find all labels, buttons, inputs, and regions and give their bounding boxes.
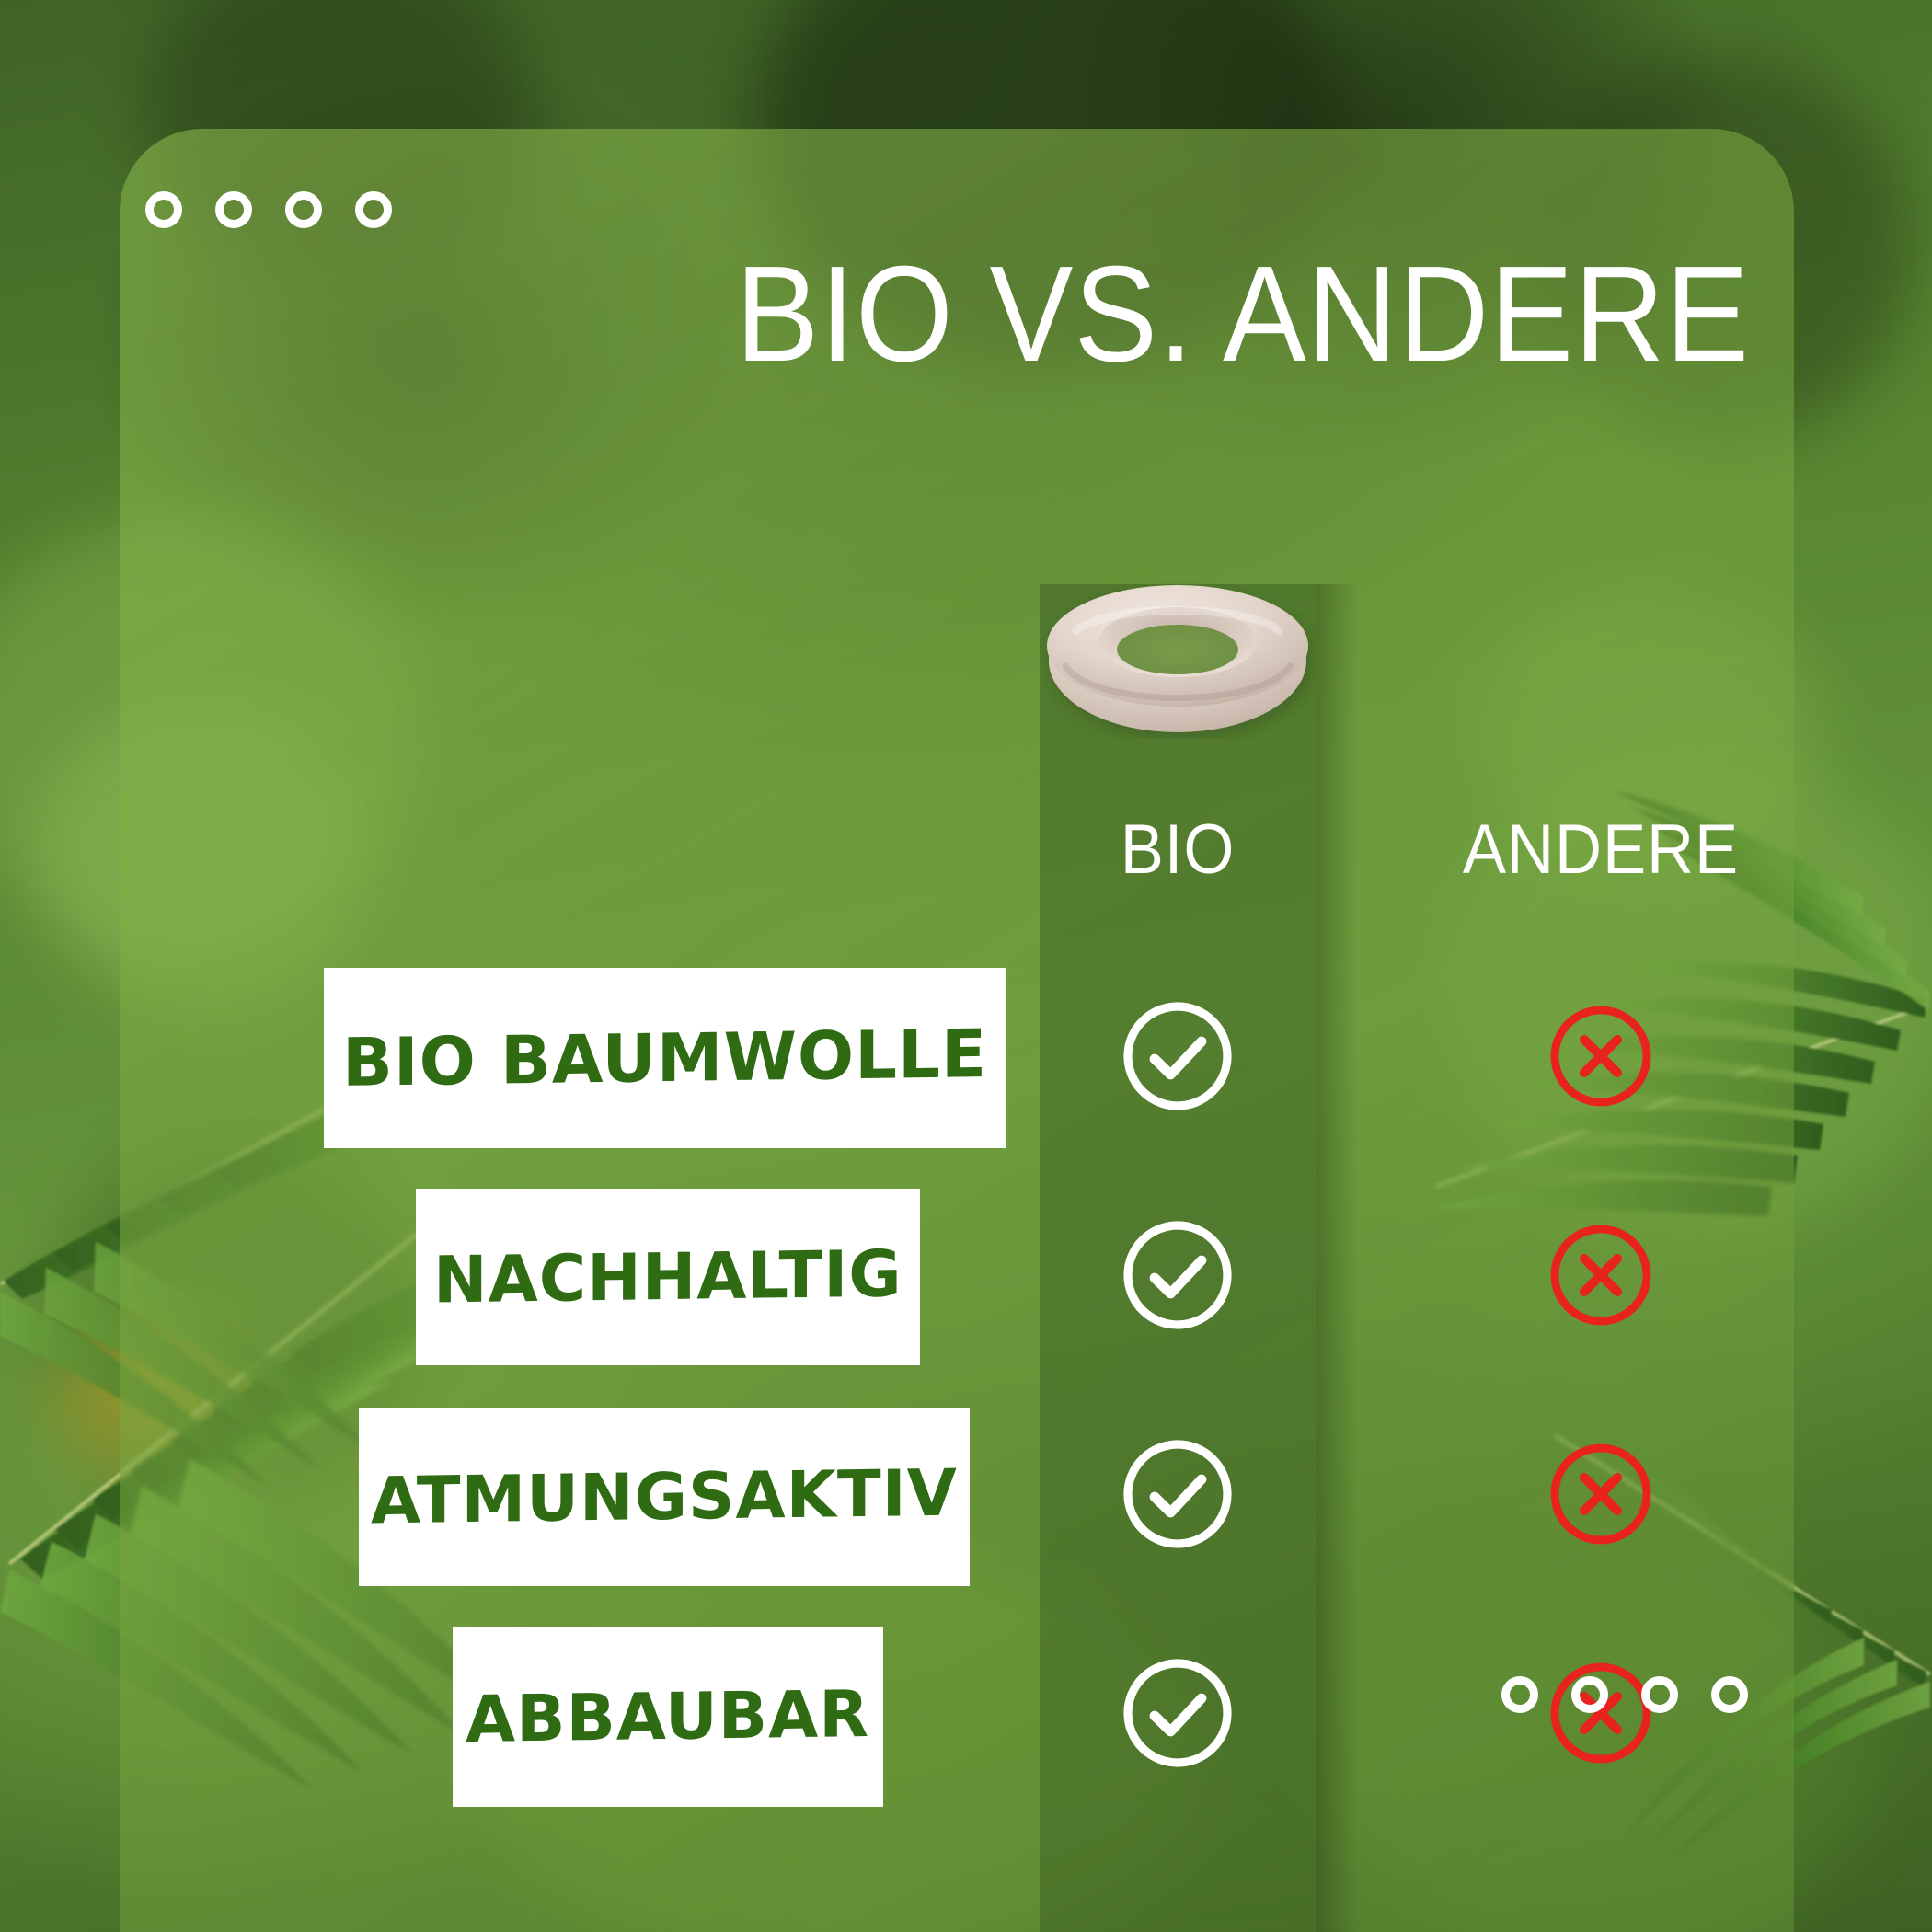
ring-dot-icon xyxy=(1711,1676,1748,1713)
feature-plate: ATMUNGSAKTIV xyxy=(359,1408,970,1586)
check-circle-icon xyxy=(1119,1216,1236,1334)
ring-dot-icon xyxy=(145,191,182,228)
ring-dot-icon xyxy=(1501,1676,1538,1713)
cross-circle-icon xyxy=(1542,997,1660,1115)
ring-dot-icon xyxy=(355,191,392,228)
hair-tie-product-image xyxy=(1040,578,1316,739)
feature-plate: BIO BAUMWOLLE xyxy=(324,968,1006,1148)
feature-plate: NACHHALTIG xyxy=(416,1189,920,1365)
feature-plate: ABBAUBAR xyxy=(453,1627,883,1807)
feature-label: NACHHALTIG xyxy=(433,1236,903,1317)
ring-dot-icon xyxy=(1571,1676,1608,1713)
check-circle-icon xyxy=(1119,1435,1236,1553)
cross-circle-icon xyxy=(1542,1216,1660,1334)
feature-label: BIO BAUMWOLLE xyxy=(342,1015,987,1101)
check-circle-icon xyxy=(1119,1654,1236,1772)
dots-row-bottom-right xyxy=(1501,1676,1748,1713)
comparison-card: BIO VS. ANDERE xyxy=(120,129,1794,1932)
column-header-other: ANDERE xyxy=(1404,810,1794,890)
column-header-bio: BIO xyxy=(1050,810,1306,890)
dots-row-top-left xyxy=(145,191,392,228)
poster-canvas: BIO VS. ANDERE xyxy=(0,0,1932,1932)
cross-circle-icon xyxy=(1542,1654,1660,1772)
ring-dot-icon xyxy=(285,191,322,228)
cross-circle-icon xyxy=(1542,1435,1660,1553)
ring-dot-icon xyxy=(1641,1676,1678,1713)
ring-dot-icon xyxy=(215,191,252,228)
feature-label: ABBAUBAR xyxy=(466,1676,869,1757)
check-circle-icon xyxy=(1119,997,1236,1115)
page-title: BIO VS. ANDERE xyxy=(250,247,1750,383)
feature-label: ATMUNGSAKTIV xyxy=(371,1455,958,1539)
